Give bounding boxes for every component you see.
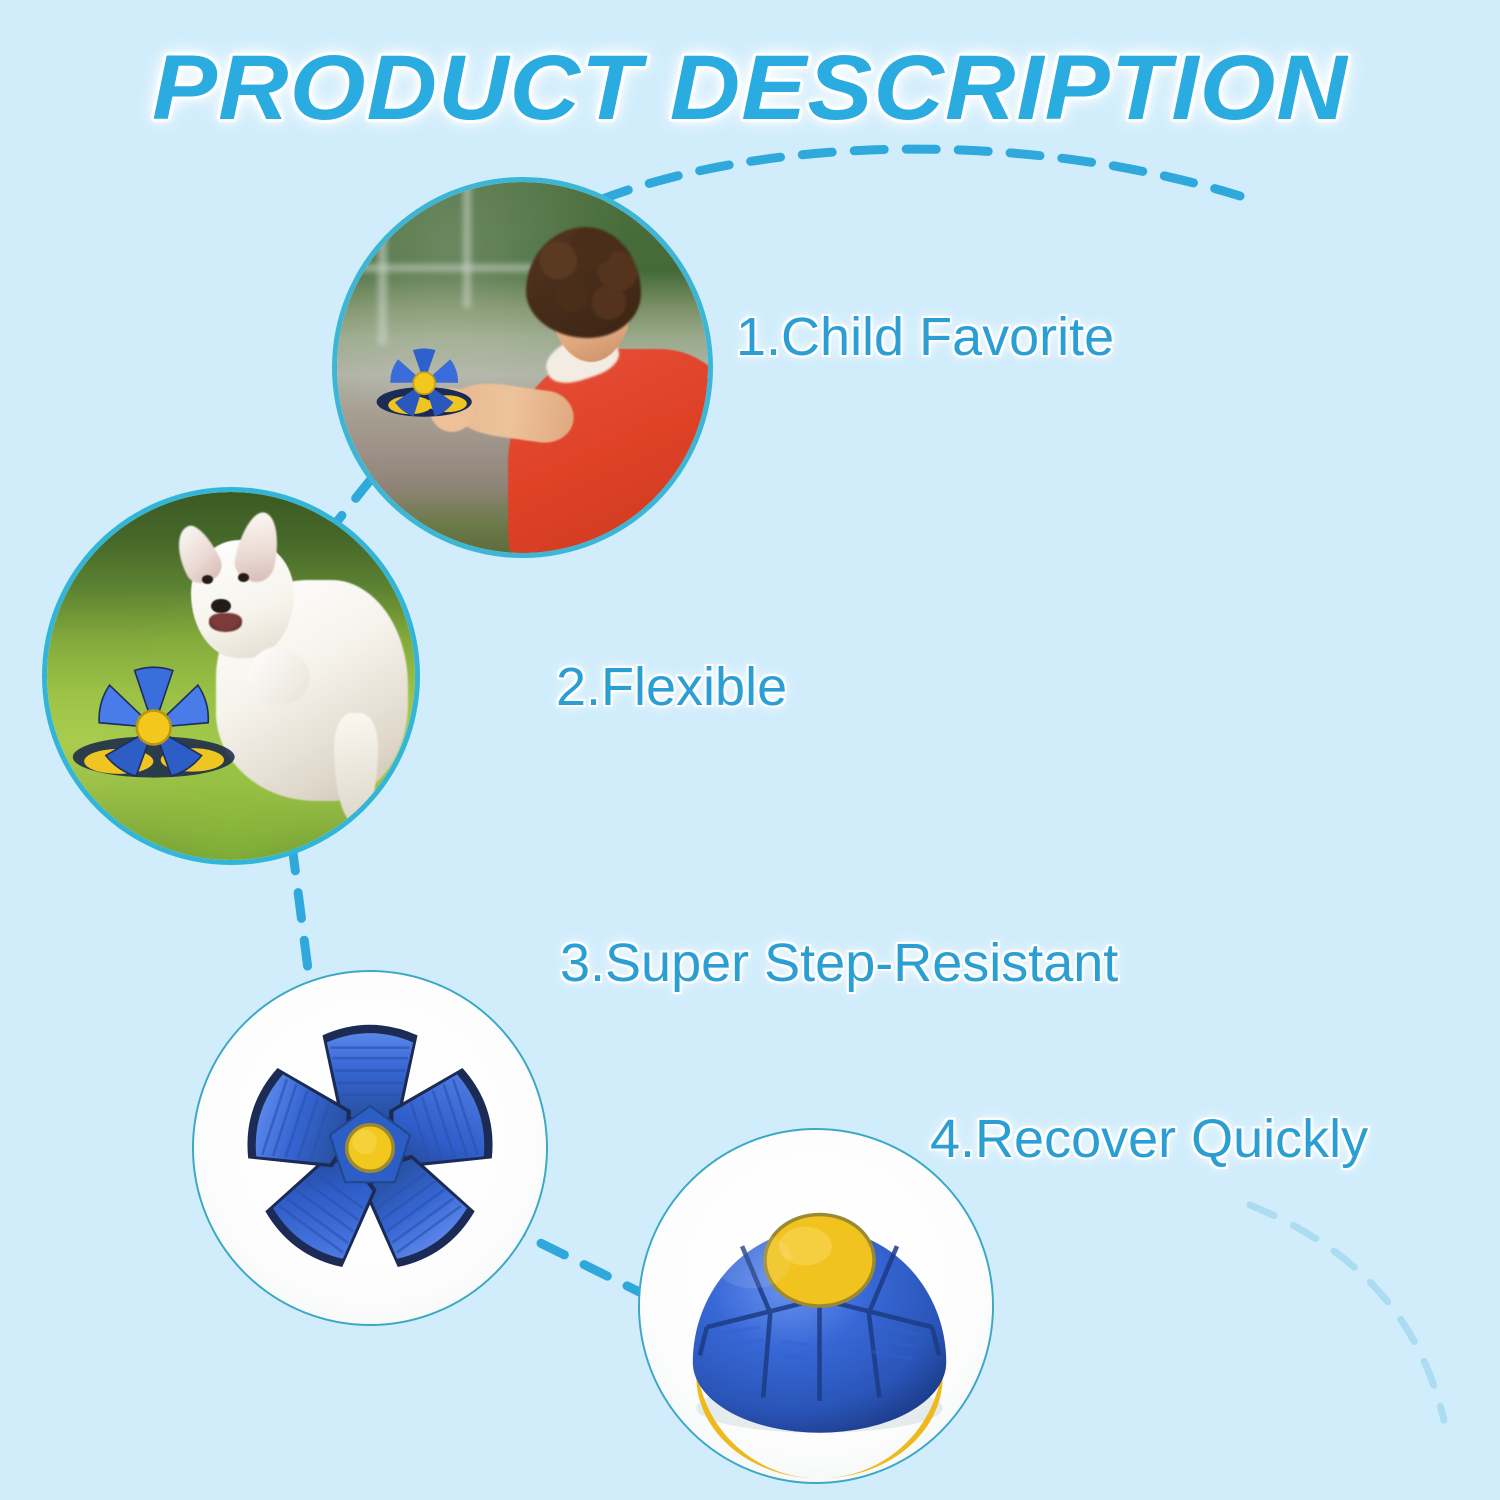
page-title: PRODUCT DESCRIPTION [0, 36, 1500, 141]
connector-curve-bottom-right [1250, 1205, 1444, 1420]
feature-label-super-step-resistant: 3.Super Step-Resistant [560, 932, 1118, 994]
feature-label-child-favorite: 1.Child Favorite [736, 306, 1114, 368]
flat-disc-top-view [194, 972, 546, 1324]
infographic-canvas: PRODUCT DESCRIPTION [0, 0, 1500, 1500]
feature-label-flexible: 2.Flexible [556, 656, 787, 718]
feature-image-recover-quickly[interactable] [638, 1128, 994, 1484]
dog-photo [47, 492, 415, 860]
dome-ball-photo [640, 1130, 992, 1482]
connector-2-3 [292, 845, 310, 985]
dome-ball [640, 1130, 992, 1482]
feature-image-super-step-resistant[interactable] [192, 970, 548, 1326]
flat-disc-on-grass [47, 492, 415, 860]
flat-disc-photo [194, 972, 546, 1324]
feature-image-flexible[interactable] [47, 492, 415, 860]
feature-label-recover-quickly: 4.Recover Quickly [930, 1108, 1368, 1170]
